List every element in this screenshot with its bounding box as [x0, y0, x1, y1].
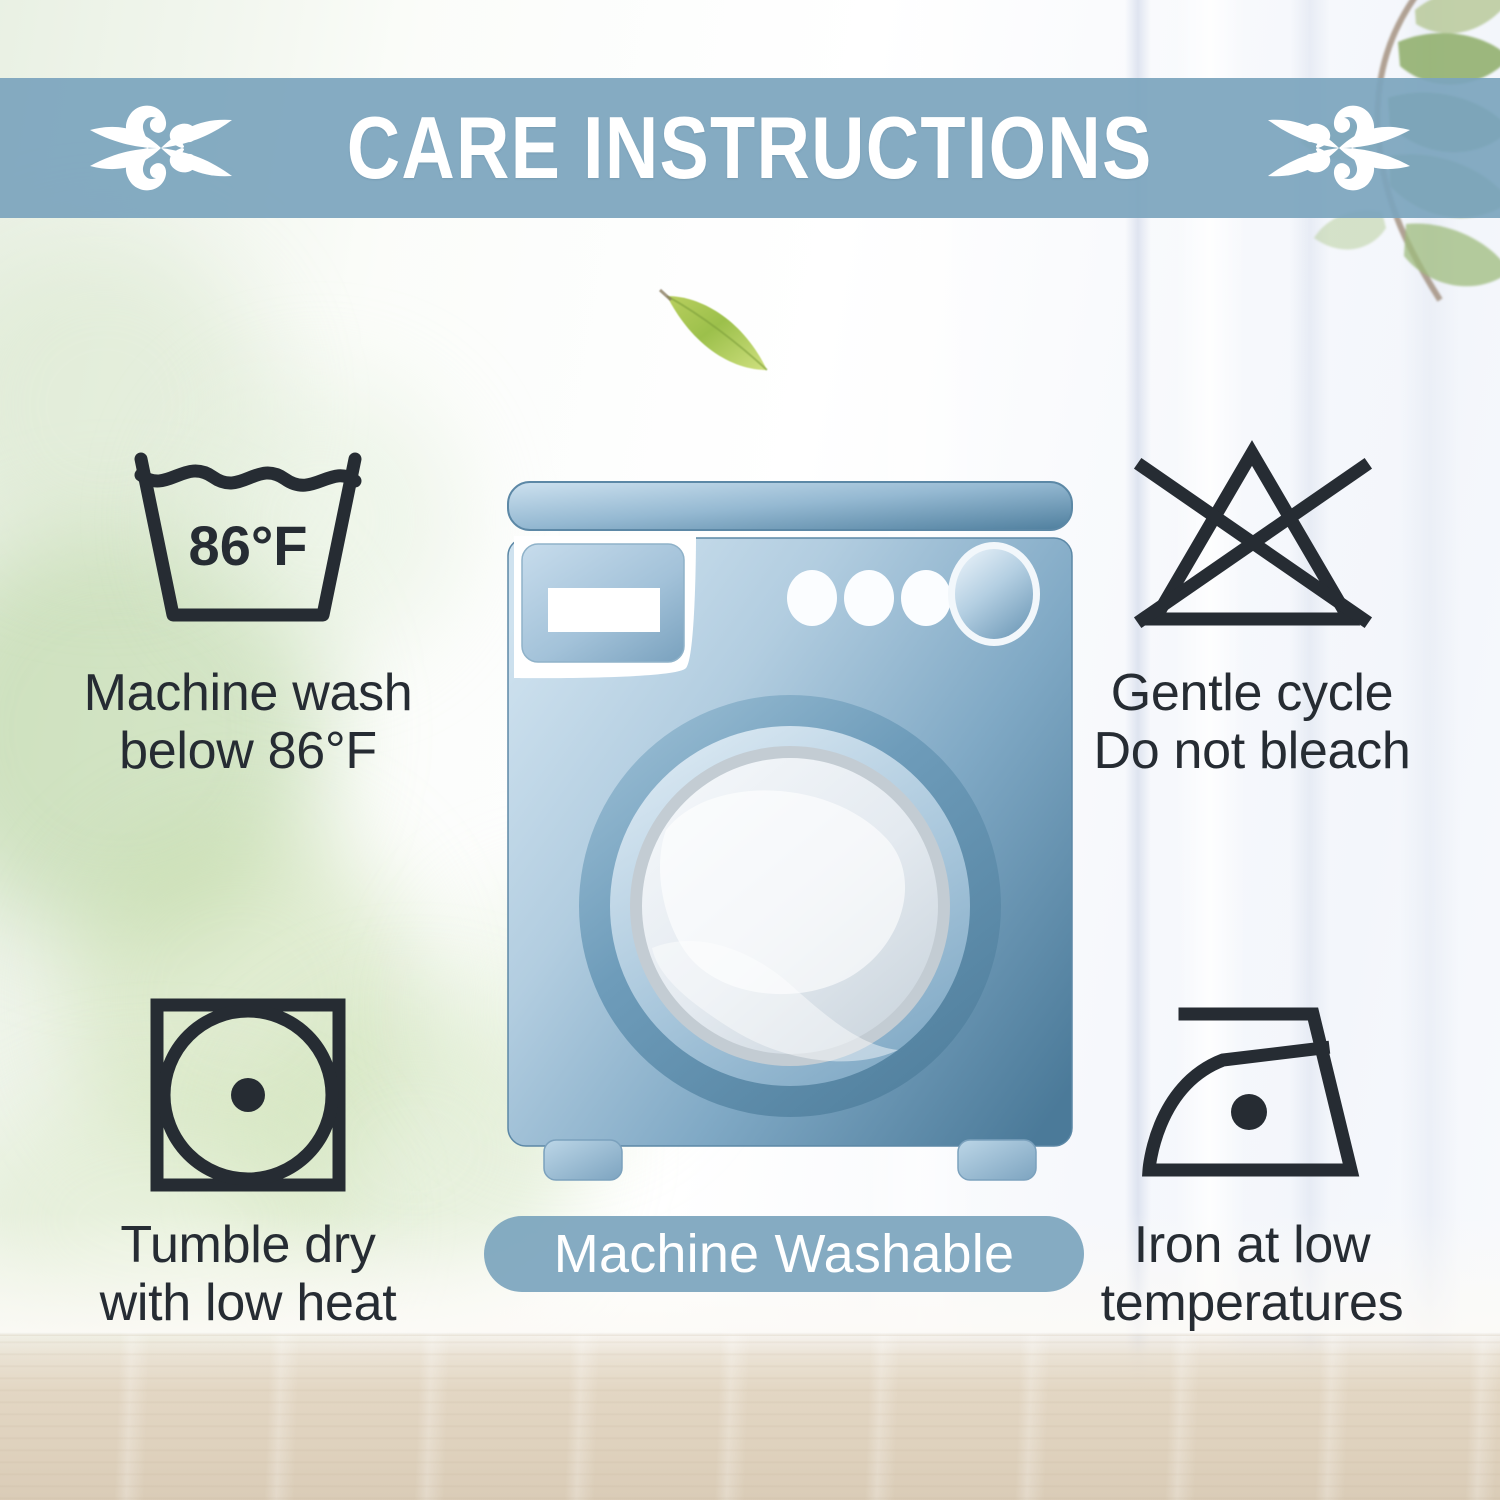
washer-foot — [958, 1140, 1036, 1180]
indicator-light — [844, 570, 894, 626]
washing-machine-illustration — [500, 478, 1080, 1183]
fleur-de-lis-icon — [1264, 100, 1414, 196]
washer-door — [579, 695, 1001, 1117]
washer-foot — [544, 1140, 622, 1180]
control-dial — [948, 542, 1040, 646]
wood-grain-texture — [0, 1332, 1500, 1500]
tumble-dry-square-icon — [118, 990, 378, 1200]
care-symbol-label: Iron at low temperatures — [1101, 1216, 1404, 1332]
heat-level-dot — [1231, 1094, 1267, 1130]
machine-washable-badge: Machine Washable — [484, 1216, 1084, 1292]
table-edge-highlight — [0, 1332, 1500, 1336]
crossed-triangle-icon — [1122, 438, 1382, 648]
care-symbol-iron: Iron at low temperatures — [1052, 990, 1452, 1332]
indicator-light — [787, 570, 837, 626]
page-title: CARE INSTRUCTIONS — [347, 104, 1153, 192]
care-symbol-tumble-dry: Tumble dry with low heat — [48, 990, 448, 1332]
care-symbol-label: Machine wash below 86°F — [84, 664, 413, 780]
wash-tub-icon: 86°F — [118, 438, 378, 648]
washer-top-lid — [508, 482, 1072, 530]
fleur-de-lis-icon — [86, 100, 236, 196]
iron-icon — [1122, 990, 1382, 1200]
care-symbol-do-not-bleach: Gentle cycle Do not bleach — [1052, 438, 1452, 780]
care-instructions-infographic: CARE INSTRUCTIONS — [0, 0, 1500, 1500]
indicator-lights — [787, 570, 951, 626]
indicator-light — [901, 570, 951, 626]
heat-level-dot — [231, 1078, 265, 1112]
header-banner: CARE INSTRUCTIONS — [0, 78, 1500, 218]
care-symbol-label: Tumble dry with low heat — [100, 1216, 397, 1332]
badge-label: Machine Washable — [554, 1227, 1014, 1281]
wooden-table-surface — [0, 1332, 1500, 1500]
wash-temperature-value: 86°F — [189, 514, 308, 577]
care-symbol-label: Gentle cycle Do not bleach — [1094, 664, 1411, 780]
detergent-drawer — [508, 536, 696, 678]
care-symbol-machine-wash: 86°F Machine wash below 86°F — [48, 438, 448, 780]
